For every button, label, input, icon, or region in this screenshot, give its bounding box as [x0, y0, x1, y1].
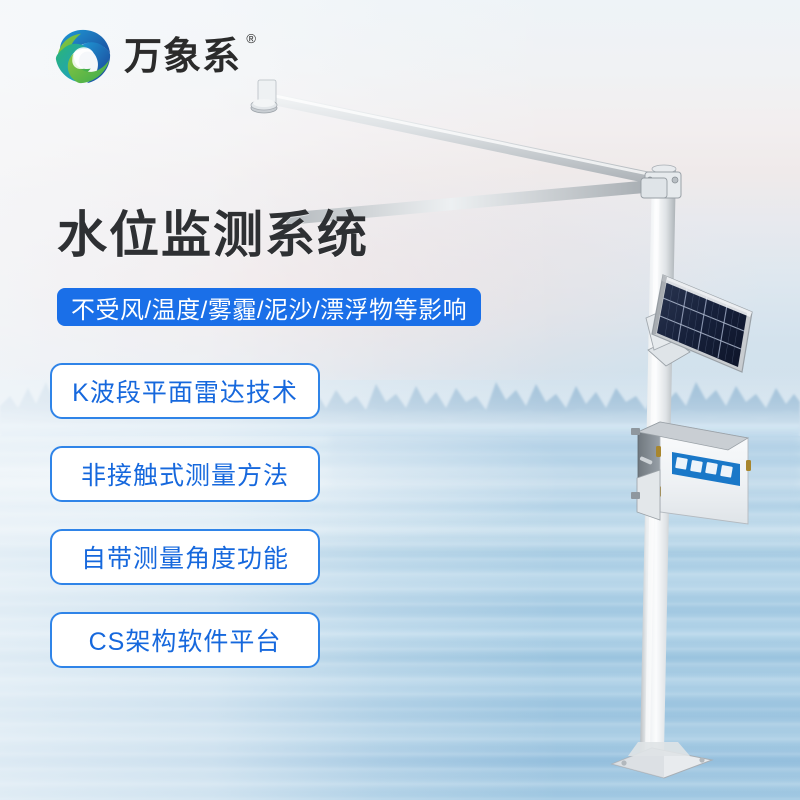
feature-item-noncontact: 非接触式测量方法: [50, 446, 320, 502]
radar-level-sensor: [251, 80, 277, 113]
instrument-cabinet: [631, 422, 751, 524]
brand-name: 万象系: [124, 36, 241, 78]
base-plate: [612, 742, 712, 778]
feature-label: 自带测量角度功能: [81, 539, 289, 575]
feature-label: K波段平面雷达技术: [72, 373, 298, 409]
poster-canvas: 万象系 ® 水位监测系统 不受风/温度/雾霾/泥沙/漂浮物等影响 K波段平面雷达…: [0, 0, 800, 800]
globe-swirl-logo-icon: [52, 26, 114, 88]
registered-mark: ®: [246, 32, 257, 45]
feature-label: 非接触式测量方法: [81, 456, 289, 492]
page-title: 水位监测系统: [57, 208, 369, 263]
feature-list: K波段平面雷达技术 非接触式测量方法 自带测量角度功能 CS架构软件平台: [50, 363, 320, 695]
feature-item-platform: CS架构软件平台: [50, 612, 320, 668]
feature-label: CS架构软件平台: [89, 622, 282, 658]
brand-name-wrap: 万象系 ®: [124, 38, 241, 76]
brand-logo: 万象系 ®: [52, 26, 241, 88]
feature-banner: 不受风/温度/雾霾/泥沙/漂浮物等影响: [57, 288, 481, 326]
solar-panel: [646, 275, 752, 372]
feature-item-radar: K波段平面雷达技术: [50, 363, 320, 419]
brace-mast-clamp: [641, 178, 667, 198]
cantilever-arm: [268, 92, 660, 186]
feature-item-angle: 自带测量角度功能: [50, 529, 320, 585]
